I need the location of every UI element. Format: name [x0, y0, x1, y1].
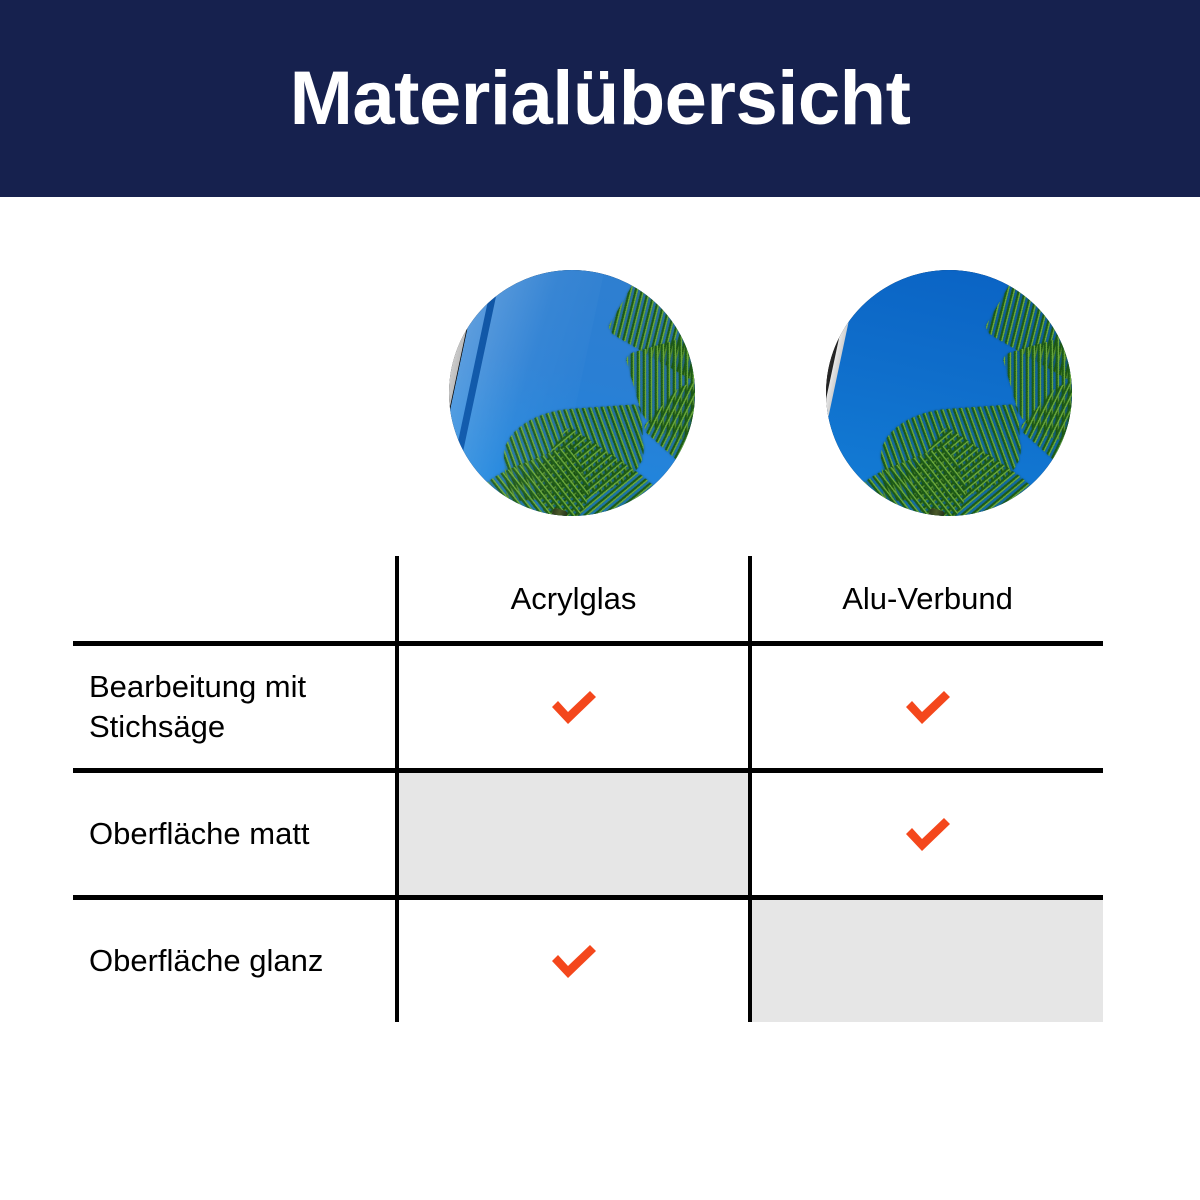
cell-glanz-acrylglas — [397, 898, 750, 1023]
page-title: Materialübersicht — [290, 61, 911, 137]
alu-verbund-scene — [826, 270, 1072, 516]
acrylglas-sample-image — [449, 270, 695, 516]
table-row: Bearbeitung mit Stichsäge — [73, 644, 1103, 771]
material-comparison-table: Acrylglas Alu-Verbund Bearbeitung mit St… — [73, 556, 1103, 1011]
material-overview-page: Materialübersicht — [0, 0, 1200, 1200]
row-label-oberflaeche-glanz: Oberfläche glanz — [73, 898, 397, 1023]
cell-glanz-alu-verbund — [750, 898, 1103, 1023]
alu-verbund-sample-image — [826, 270, 1072, 516]
print-surface — [826, 270, 1072, 516]
table-row: Oberfläche glanz — [73, 898, 1103, 1023]
row-label-oberflaeche-matt: Oberfläche matt — [73, 771, 397, 898]
cell-matt-acrylglas — [397, 771, 750, 898]
column-header-alu-verbund: Alu-Verbund — [750, 556, 1103, 644]
row-label-line-1: Bearbeitung mit — [89, 669, 306, 704]
check-icon — [901, 813, 955, 855]
check-icon — [547, 686, 601, 728]
column-header-acrylglas: Acrylglas — [397, 556, 750, 644]
row-label-bearbeitung-stichsaege: Bearbeitung mit Stichsäge — [73, 644, 397, 771]
table-corner-cell — [73, 556, 397, 644]
sample-images — [0, 270, 1200, 516]
check-icon — [901, 686, 955, 728]
cell-bearbeitung-alu-verbund — [750, 644, 1103, 771]
row-label-line-2: Stichsäge — [89, 709, 225, 744]
row-label-line-1: Oberfläche matt — [89, 816, 310, 851]
header-banner: Materialübersicht — [0, 0, 1200, 197]
check-icon — [547, 940, 601, 982]
acrylglas-scene — [449, 270, 695, 516]
table-row: Oberfläche matt — [73, 771, 1103, 898]
table-header-row: Acrylglas Alu-Verbund — [73, 556, 1103, 644]
row-label-line-1: Oberfläche glanz — [89, 943, 323, 978]
cell-bearbeitung-acrylglas — [397, 644, 750, 771]
cell-matt-alu-verbund — [750, 771, 1103, 898]
